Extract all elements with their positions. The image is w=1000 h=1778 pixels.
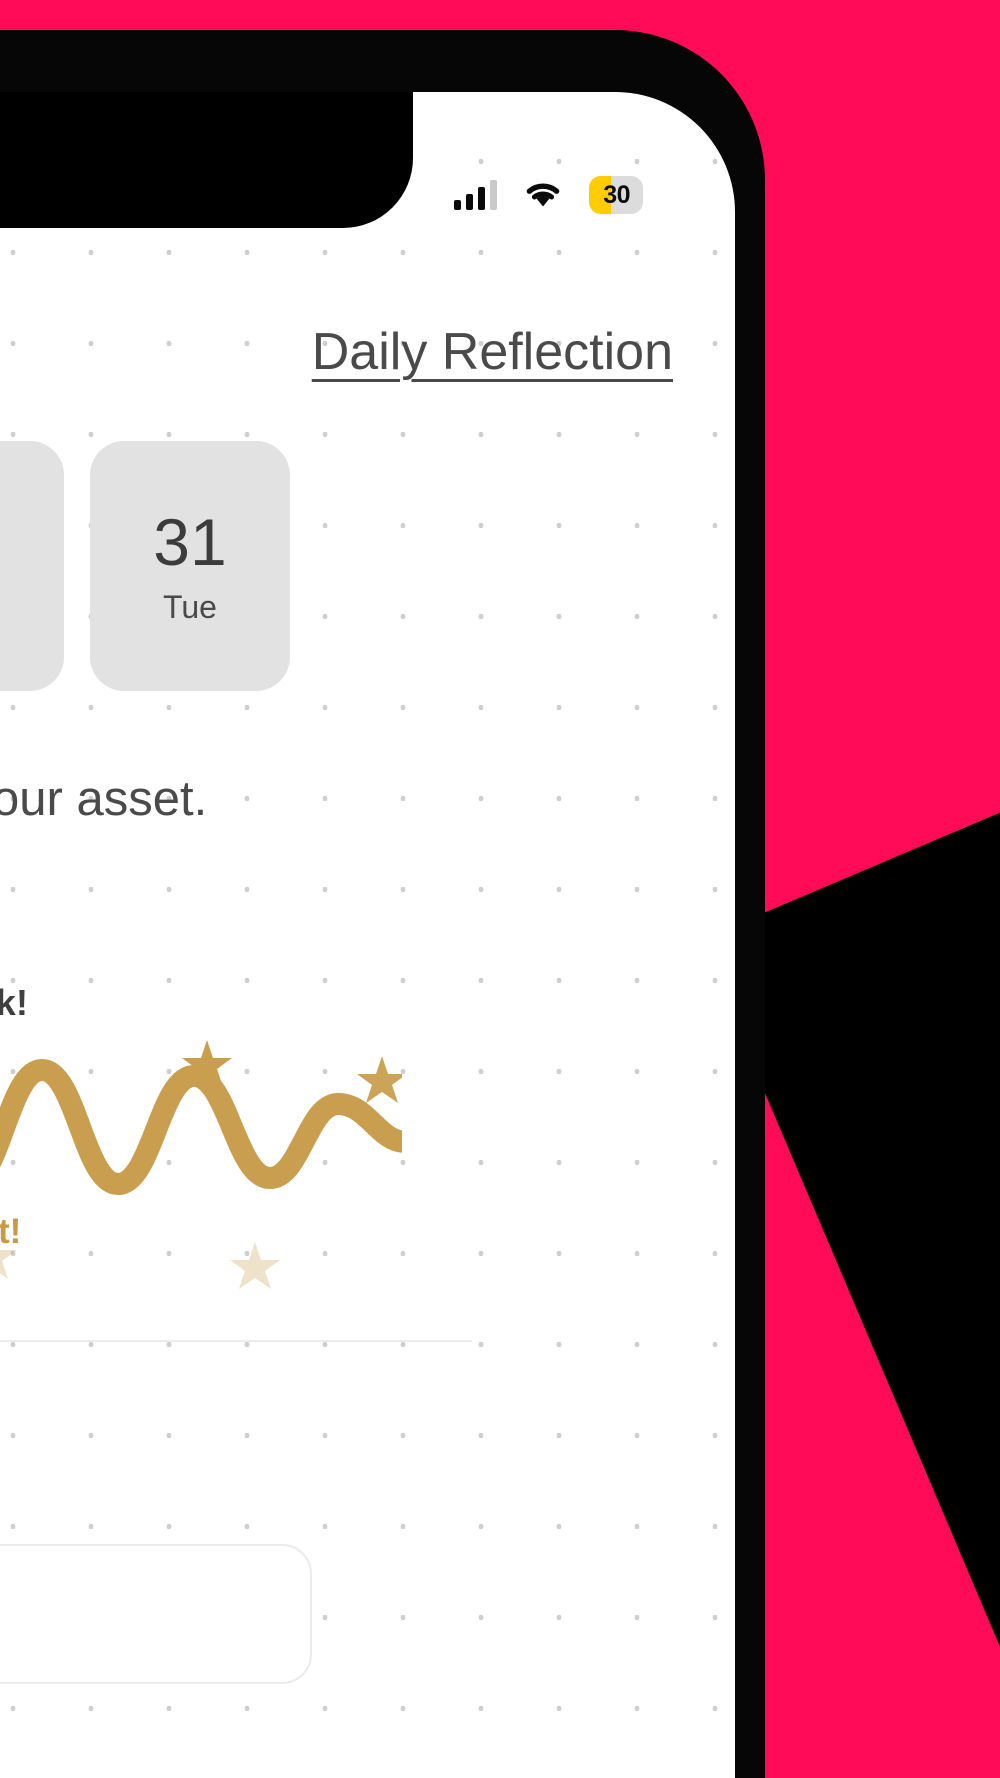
phone-screen: 30 W Daily Reflection 8 at 29 Sun [0,92,735,1778]
quote-author: Matshona Dhliwayo [0,882,322,920]
streak-confetti-stars [0,1232,402,1372]
battery-indicator: 30 [589,176,643,214]
screenshot-stage: 30 W Daily Reflection 8 at 29 Sun [0,0,1000,1778]
daily-reflection-link[interactable]: Daily Reflection [312,322,673,382]
dynamic-island-notch [0,92,413,228]
date-selector-strip[interactable]: 8 at 29 Sun 30 Mon 31 Tue [0,441,673,691]
date-number: 30 [0,509,1,575]
gratitude-question: t are you grateful for today? [0,1434,402,1492]
phone-device: 30 W Daily Reflection 8 at 29 Sun [0,30,765,1778]
date-chip-31[interactable]: 31 Tue [90,441,290,691]
header-row: W Daily Reflection [0,314,673,383]
streak-title: 101 Day Streak! [0,982,402,1024]
streak-wave-graphic [0,1026,402,1216]
status-bar: 30 [454,176,643,214]
battery-level-label: 30 [589,181,630,210]
cellular-bars-icon [454,180,498,210]
wifi-icon [523,180,563,210]
streak-section: 101 Day Streak! [0,982,402,1312]
date-number: 31 [153,509,226,575]
quote-text: sell yourself short; you are your asset. [0,769,322,830]
date-chip-30[interactable]: 30 Mon [0,441,64,691]
date-dayofweek: Tue [163,591,217,623]
app-content: W Daily Reflection 8 at 29 Sun 30 Mon [0,262,735,1684]
gratitude-input[interactable]: eful for my family [0,1544,312,1684]
